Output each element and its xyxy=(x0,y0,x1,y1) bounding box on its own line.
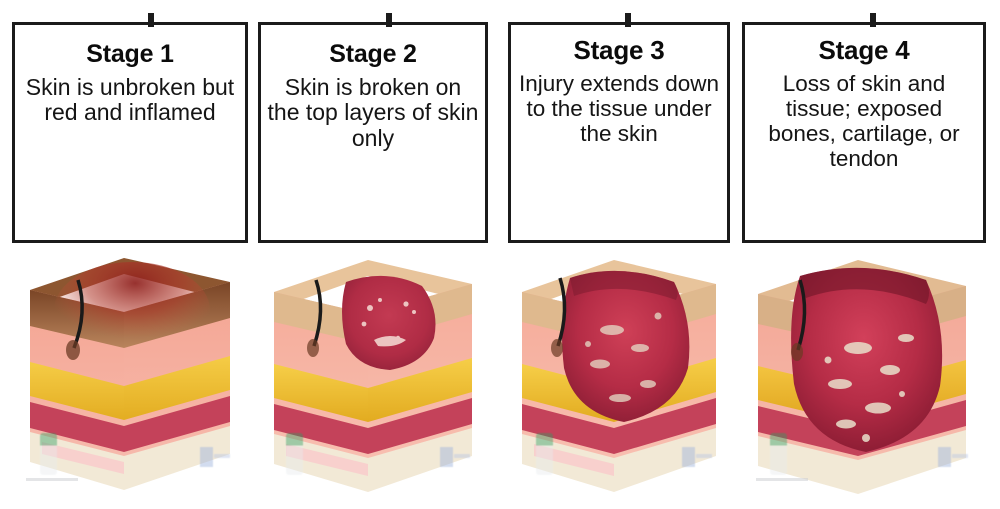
stage-card-3: Stage 3 Injury extends down to the tissu… xyxy=(508,22,730,243)
follicle-bulb xyxy=(307,339,319,357)
stage-card-2: Stage 2 Skin is broken on the top layers… xyxy=(258,22,488,243)
skin-cross-section-svg-1 xyxy=(12,252,248,497)
skin-cross-section-svg-3 xyxy=(508,252,730,497)
stage-card-1: Stage 1 Skin is unbroken but red and inf… xyxy=(12,22,248,243)
follicle-bulb xyxy=(66,340,80,360)
stage-illustration-4 xyxy=(742,252,986,497)
stage-illustration-2 xyxy=(258,252,488,497)
stage-description-3: Injury extends down to the tissue under … xyxy=(511,71,727,147)
tick-mark-icon xyxy=(870,13,876,27)
stage-description-4: Loss of skin and tissue; exposed bones, … xyxy=(745,71,983,172)
follicle-bulb xyxy=(791,343,803,361)
pressure-ulcer-stage-diagram: Stage 1 Skin is unbroken but red and inf… xyxy=(0,0,1000,509)
tick-mark-icon xyxy=(625,13,631,27)
stage-card-4: Stage 4 Loss of skin and tissue; exposed… xyxy=(742,22,986,243)
stage-illustration-3 xyxy=(508,252,730,497)
stage-column-1: Stage 1 Skin is unbroken but red and inf… xyxy=(12,0,248,509)
stage-illustration-1 xyxy=(12,252,248,497)
skin-cross-section-svg-2 xyxy=(258,252,488,497)
stage-title-4: Stage 4 xyxy=(818,36,909,65)
stage-description-2: Skin is broken on the top layers of skin… xyxy=(261,75,485,152)
follicle-bulb xyxy=(551,339,563,357)
skin-cross-section-svg-4 xyxy=(742,252,986,497)
stage-title-1: Stage 1 xyxy=(86,41,174,69)
stage-column-2: Stage 2 Skin is broken on the top layers… xyxy=(258,0,488,509)
wound-bed-partial-thickness xyxy=(342,276,436,370)
stage-column-3: Stage 3 Injury extends down to the tissu… xyxy=(508,0,730,509)
stage-title-2: Stage 2 xyxy=(329,41,417,69)
tick-mark-icon xyxy=(148,13,154,27)
stage-description-1: Skin is unbroken but red and inflamed xyxy=(15,75,245,127)
stage-title-3: Stage 3 xyxy=(573,36,664,65)
tick-mark-icon xyxy=(386,13,392,27)
stage-column-4: Stage 4 Loss of skin and tissue; exposed… xyxy=(742,0,986,509)
